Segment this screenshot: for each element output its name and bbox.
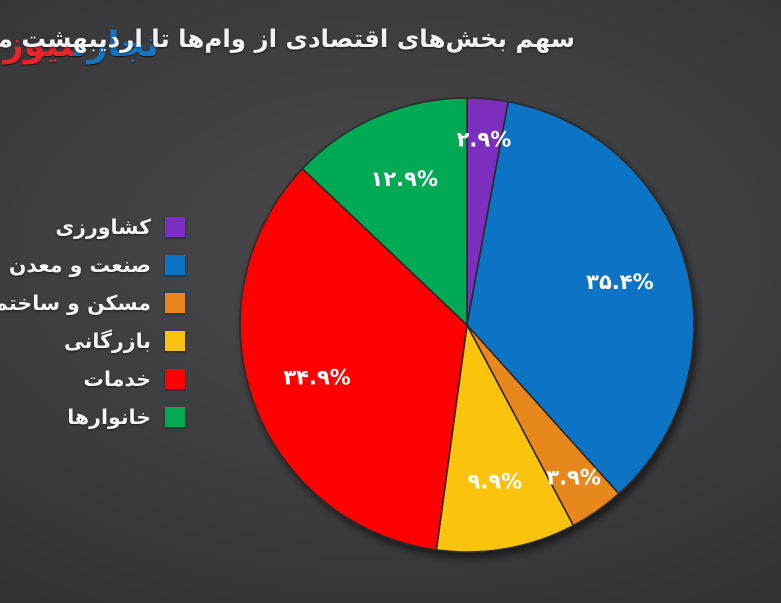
legend-item-maskan-va-sakhteman[interactable]: مسکن و ساختمان — [5, 284, 185, 322]
legend-swatch-icon-khanevarha — [165, 407, 185, 427]
legend-label-keshavarzi: کشاورزی — [55, 215, 151, 239]
legend-swatch-icon-khadamat — [165, 369, 185, 389]
pie-slice-value-label: ۱۲.۹% — [371, 167, 438, 191]
legend-swatch-icon-maskan-va-sakhteman — [165, 293, 185, 313]
legend-item-khadamat[interactable]: خدمات — [5, 360, 185, 398]
legend-label-khanevarha: خانوارها — [67, 405, 151, 429]
pie-slice-value-label: ۲.۹% — [457, 128, 512, 152]
legend-swatch-icon-keshavarzi — [165, 217, 185, 237]
chart-legend: کشاورزی صنعت و معدن مسکن و ساختمان بازرگ… — [5, 208, 185, 436]
legend-label-khadamat: خدمات — [83, 367, 151, 391]
legend-label-bazargani: بازرگانی — [64, 329, 151, 353]
legend-item-bazargani[interactable]: بازرگانی — [5, 322, 185, 360]
chart-canvas: تجارتنیوز سهم بخش‌های اقتصادی از وام‌ها … — [0, 0, 781, 603]
chart-header: تجارتنیوز سهم بخش‌های اقتصادی از وام‌ها … — [0, 0, 781, 88]
pie-slice-value-label: ۹.۹% — [468, 469, 523, 493]
legend-label-maskan-va-sakhteman: مسکن و ساختمان — [0, 291, 151, 315]
pie-chart-svg: ۲.۹%۳۵.۴%۳.۹%۹.۹%۳۴.۹%۱۲.۹% — [226, 84, 708, 566]
pie-chart: ۲.۹%۳۵.۴%۳.۹%۹.۹%۳۴.۹%۱۲.۹% — [226, 84, 708, 566]
pie-slice-value-label: ۳۵.۴% — [586, 270, 653, 294]
legend-swatch-icon-bazargani — [165, 331, 185, 351]
legend-item-khanevarha[interactable]: خانوارها — [5, 398, 185, 436]
page-title: سهم بخش‌های اقتصادی از وام‌ها تا اردیبهش… — [15, 22, 575, 55]
pie-slice-value-label: ۳.۹% — [546, 466, 601, 490]
legend-item-sanat-va-madan[interactable]: صنعت و معدن — [5, 246, 185, 284]
legend-item-keshavarzi[interactable]: کشاورزی — [5, 208, 185, 246]
legend-label-sanat-va-madan: صنعت و معدن — [9, 253, 151, 277]
legend-swatch-icon-sanat-va-madan — [165, 255, 185, 275]
pie-slice-value-label: ۳۴.۹% — [283, 366, 350, 390]
